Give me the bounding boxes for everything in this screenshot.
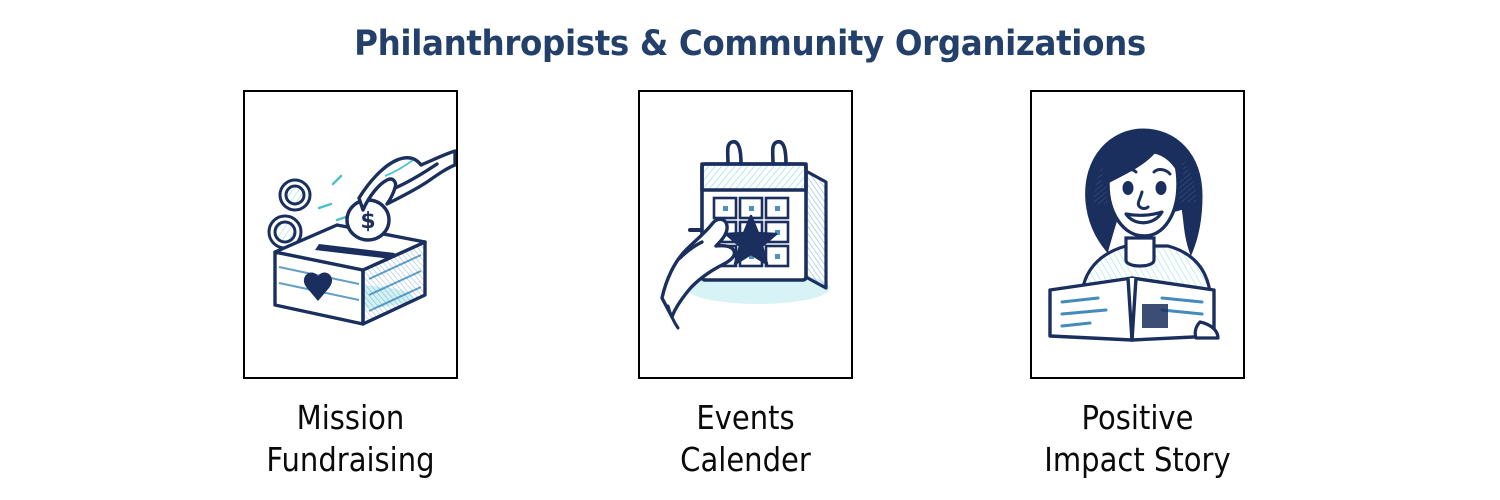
reading-woman-icon <box>1032 92 1243 377</box>
caption-line-2: Fundraising <box>256 439 445 481</box>
caption-line-1: Events <box>696 398 794 437</box>
card-caption: Positive Impact Story <box>1043 397 1232 481</box>
svg-text:$: $ <box>360 209 375 234</box>
donation-box-icon: $ <box>245 92 456 377</box>
calendar-icon <box>640 92 851 377</box>
caption-line-2: Impact Story <box>1043 439 1232 481</box>
card-row: $ Mission Fundraising <box>243 90 1243 470</box>
caption-line-1: Mission <box>297 398 405 437</box>
card-caption: Events Calender <box>651 397 840 481</box>
page-title: Philanthropists & Community Organization… <box>53 24 1448 64</box>
caption-line-2: Calender <box>651 439 840 481</box>
card-events-calender[interactable]: Events Calender <box>638 90 853 481</box>
illustration-frame: $ <box>243 90 458 379</box>
illustration-frame <box>638 90 853 379</box>
card-caption: Mission Fundraising <box>256 397 445 481</box>
card-mission-fundraising[interactable]: $ Mission Fundraising <box>243 90 458 481</box>
caption-line-1: Positive <box>1082 398 1194 437</box>
illustration-frame <box>1030 90 1245 379</box>
card-positive-impact-story[interactable]: Positive Impact Story <box>1030 90 1245 481</box>
